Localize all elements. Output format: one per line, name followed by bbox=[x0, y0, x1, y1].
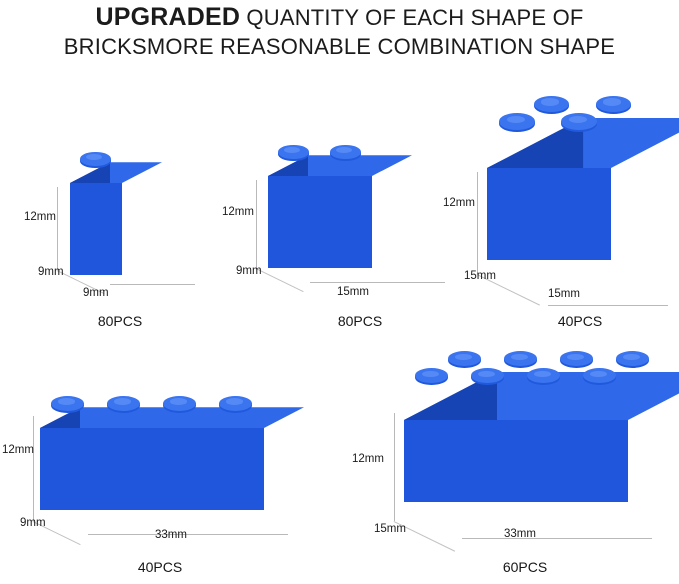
brick-cell-brick-2x4: 12mm15mm33mm60PCS bbox=[0, 0, 679, 584]
stud-highlight bbox=[567, 354, 584, 361]
brick-stud bbox=[583, 368, 615, 392]
dimension-line-height bbox=[394, 413, 395, 521]
stud-highlight bbox=[511, 354, 528, 361]
brick-stud bbox=[471, 368, 503, 392]
brick-stud bbox=[415, 368, 447, 392]
dimension-label-width: 33mm bbox=[504, 528, 536, 540]
brick-stud bbox=[527, 368, 559, 392]
stud-highlight bbox=[623, 354, 640, 361]
dimension-line-width bbox=[462, 538, 652, 539]
stud-highlight bbox=[455, 354, 472, 361]
quantity-label: 60PCS bbox=[465, 559, 585, 575]
brick-stud bbox=[616, 351, 648, 375]
dimension-label-depth: 15mm bbox=[374, 523, 406, 535]
brick-front-face bbox=[404, 420, 628, 502]
brick-brick-2x4 bbox=[404, 420, 679, 533]
dimension-label-height: 12mm bbox=[352, 453, 384, 465]
